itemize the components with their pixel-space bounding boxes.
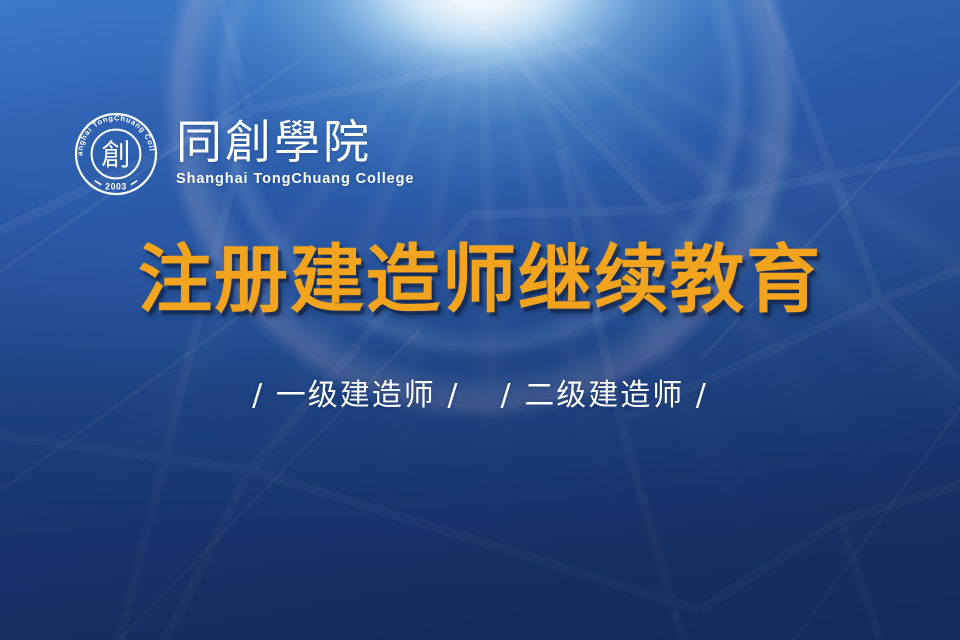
brand-wordmark: 同創學院 Shanghai TongChuang College — [176, 119, 414, 188]
promo-banner: Shanghai TongChuang College 創 2003 同創學院 … — [0, 0, 960, 640]
svg-text:創: 創 — [101, 138, 130, 172]
college-seal-emblem-icon: Shanghai TongChuang College 創 2003 — [70, 108, 162, 200]
hero-subtitle: / 一级建造师 / / 二级建造师 / — [0, 381, 960, 411]
wordmark-english: Shanghai TongChuang College — [176, 171, 414, 188]
wordmark-chinese: 同創學院 — [176, 119, 414, 166]
svg-text:2003: 2003 — [105, 181, 127, 191]
brand-logo-lockup[interactable]: Shanghai TongChuang College 創 2003 同創學院 … — [70, 108, 414, 200]
subtitle-level-two: / 二级建造师 / — [501, 378, 708, 413]
hero-title: 注册建造师继续教育 — [0, 243, 960, 317]
subtitle-level-one: / 一级建造师 / — [252, 378, 459, 413]
